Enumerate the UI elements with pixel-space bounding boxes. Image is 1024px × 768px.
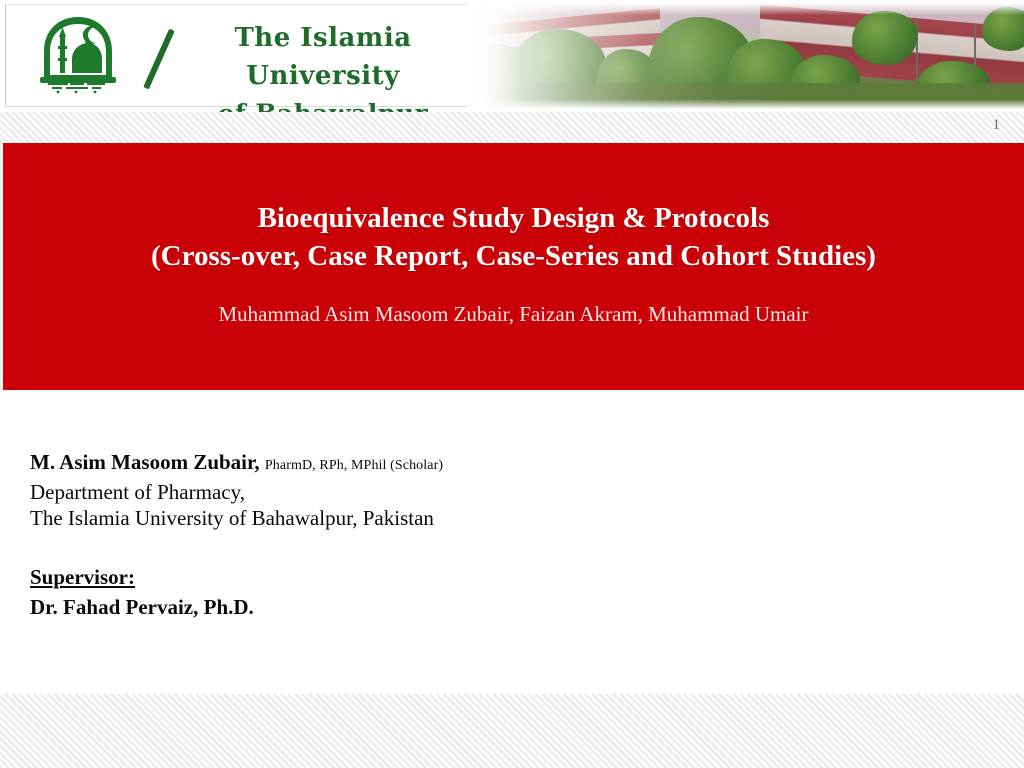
presentation-slide: The Islamia University of Bahawalpur 1 B… bbox=[0, 0, 1024, 768]
slide-header: The Islamia University of Bahawalpur bbox=[0, 0, 1024, 112]
university-name: The Islamia University of Bahawalpur bbox=[184, 19, 462, 112]
presenter-block: M. Asim Masoom Zubair, PharmD, RPh, MPhi… bbox=[30, 449, 650, 531]
presenter-institution: The Islamia University of Bahawalpur, Pa… bbox=[30, 505, 650, 531]
university-name-line1: The Islamia University bbox=[184, 19, 462, 95]
presenter-credentials: PharmD, RPh, MPhil (Scholar) bbox=[265, 458, 443, 473]
slide-title-line2: (Cross-over, Case Report, Case-Series an… bbox=[3, 237, 1024, 275]
slide-authors: Muhammad Asim Masoom Zubair, Faizan Akra… bbox=[3, 300, 1024, 328]
university-name-line2: of Bahawalpur bbox=[184, 95, 462, 112]
presenter-department: Department of Pharmacy, bbox=[30, 479, 650, 505]
footer-hatch-band bbox=[0, 694, 1024, 768]
supervisor-name: Dr. Fahad Pervaiz, Ph.D. bbox=[30, 592, 254, 622]
slide-title-line1: Bioequivalence Study Design & Protocols bbox=[3, 199, 1024, 237]
logo-card: The Islamia University of Bahawalpur bbox=[5, 4, 467, 107]
title-banner: Bioequivalence Study Design & Protocols … bbox=[3, 143, 1024, 390]
header-hatch-band bbox=[0, 112, 1024, 143]
slide-number: 1 bbox=[993, 117, 1001, 134]
presenter-name: M. Asim Masoom Zubair, bbox=[30, 450, 260, 474]
supervisor-label: Supervisor: bbox=[30, 562, 254, 592]
presenter-name-line: M. Asim Masoom Zubair, PharmD, RPh, MPhi… bbox=[30, 449, 650, 479]
green-slash-icon bbox=[143, 29, 175, 90]
university-crest-icon bbox=[34, 15, 122, 101]
supervisor-block: Supervisor: Dr. Fahad Pervaiz, Ph.D. bbox=[30, 562, 254, 622]
